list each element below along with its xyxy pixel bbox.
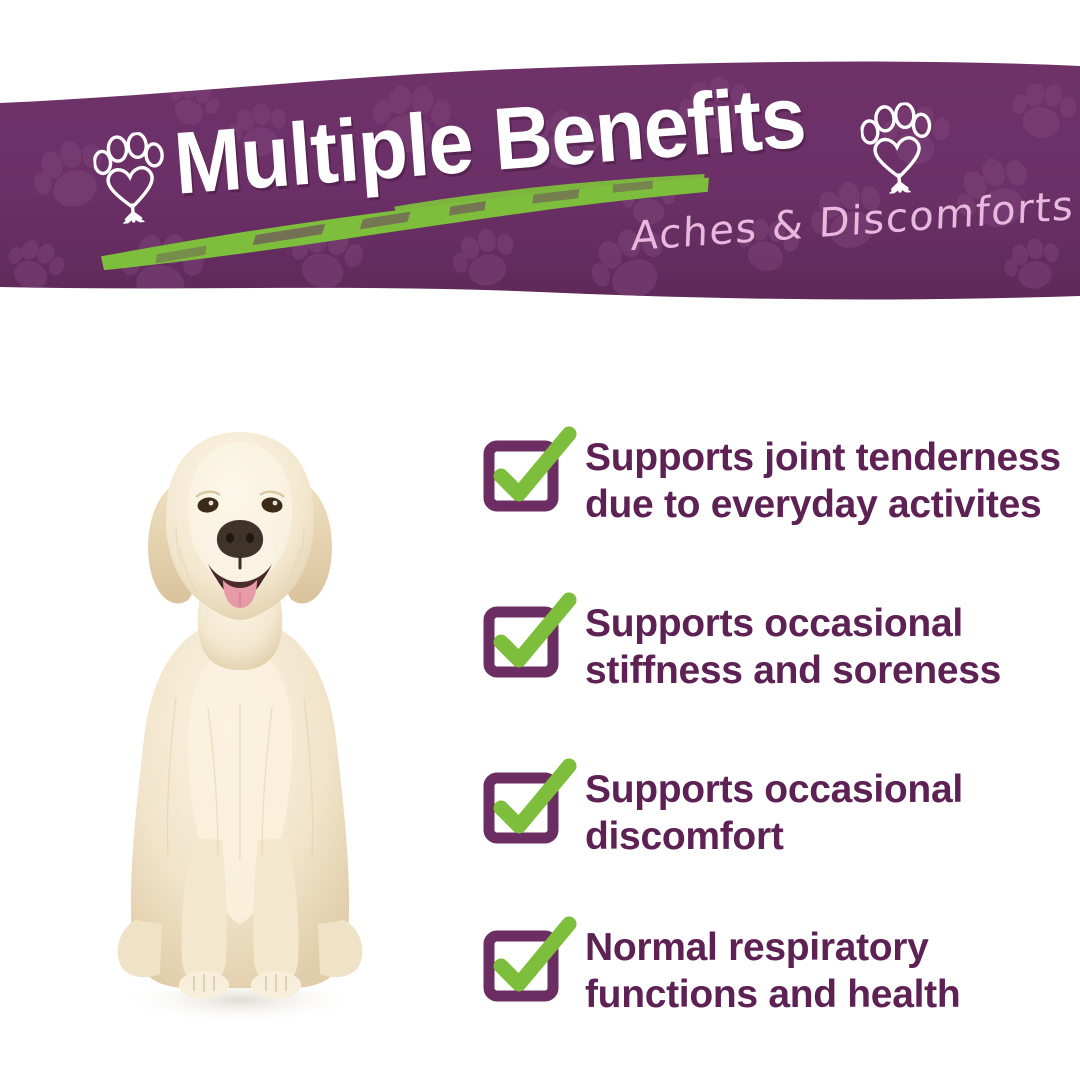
- benefit-text: Supports joint tenderness due to everyda…: [585, 420, 1061, 528]
- checkbox-checked-icon[interactable]: [481, 756, 577, 852]
- list-item[interactable]: Supports occasional stiffness and sorene…: [487, 586, 1067, 694]
- checkbox-checked-icon[interactable]: [481, 590, 577, 686]
- dog-photo: [80, 408, 400, 1028]
- benefit-text: Normal respiratory functions and health: [585, 910, 960, 1018]
- checkbox-checked-icon[interactable]: [481, 914, 577, 1010]
- benefit-text: Supports occasional discomfort: [585, 752, 963, 860]
- benefit-text: Supports occasional stiffness and sorene…: [585, 586, 1001, 694]
- benefits-list: Supports joint tenderness due to everyda…: [487, 420, 1067, 1018]
- list-item[interactable]: Normal respiratory functions and health: [487, 910, 1067, 1018]
- checkbox-checked-icon[interactable]: [481, 424, 577, 520]
- promo-graphic: Multiple Benefits Aches & Discomforts: [0, 0, 1080, 1080]
- list-item[interactable]: Supports joint tenderness due to everyda…: [487, 420, 1067, 528]
- golden-retriever-illustration: [80, 408, 400, 1028]
- banner: Multiple Benefits Aches & Discomforts: [0, 0, 1080, 330]
- banner-ribbon-shape: [0, 0, 1080, 330]
- list-item[interactable]: Supports occasional discomfort: [487, 752, 1067, 860]
